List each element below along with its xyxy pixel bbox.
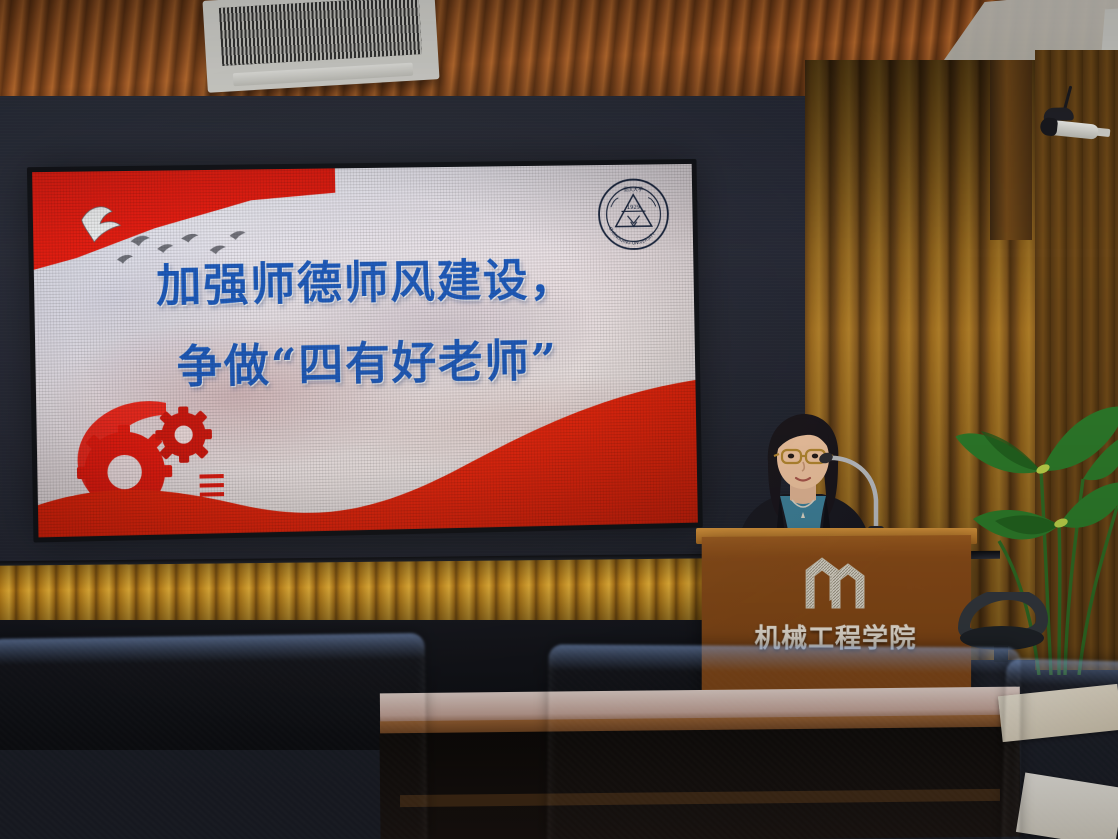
- slide-red-wave: [36, 374, 698, 537]
- audience-chair-right: [1002, 658, 1118, 839]
- ac-grille: [219, 0, 422, 66]
- presentation-screen: 1929 重庆大学 CHONGQING UNIVERSITY 加强师德师风建设，…: [32, 164, 698, 537]
- chair-fabric-texture: [547, 644, 1020, 839]
- corner-pillar: [990, 60, 1032, 240]
- lower-wood-slats: [0, 558, 720, 628]
- slide-canvas: 1929 重庆大学 CHONGQING UNIVERSITY 加强师德师风建设，…: [32, 164, 698, 537]
- audience-chair-center: [547, 644, 1020, 839]
- svg-text:重庆大学: 重庆大学: [623, 186, 643, 193]
- slide-headline-line-1: 加强师德师风建设，: [34, 249, 695, 318]
- mechanical-engineering-logo-icon: [800, 554, 870, 612]
- lecture-hall-photo: 1929 重庆大学 CHONGQING UNIVERSITY 加强师德师风建设，…: [0, 0, 1118, 839]
- svg-text:1929: 1929: [627, 205, 641, 211]
- camera-lens-icon: [1039, 117, 1058, 137]
- audience-chair-left: [0, 633, 427, 839]
- chair-highlight: [1006, 658, 1118, 687]
- air-conditioner-icon: [202, 0, 439, 93]
- university-seal-icon: 1929 重庆大学 CHONGQING UNIVERSITY: [595, 176, 671, 252]
- chair-highlight: [549, 644, 1021, 673]
